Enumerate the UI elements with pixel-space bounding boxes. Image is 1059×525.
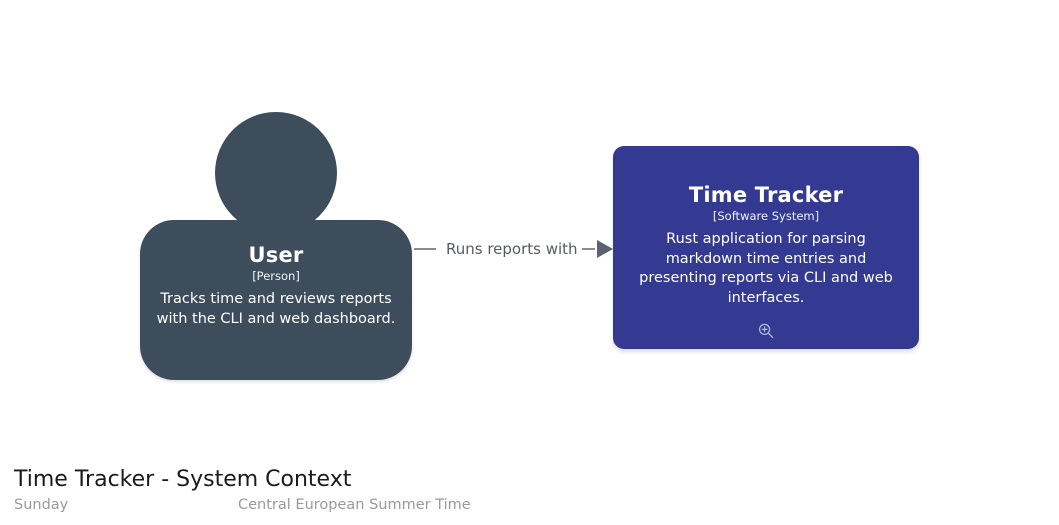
diagram-title: Time Tracker - System Context — [14, 466, 714, 494]
relationship-line-left — [414, 248, 436, 250]
diagram-timezone-label: Central European Summer Time — [238, 495, 471, 515]
person-label-group: User [Person] Tracks time and reviews re… — [140, 220, 412, 380]
person-name: User — [152, 242, 400, 268]
zoom-in-icon[interactable] — [757, 322, 775, 340]
system-description: Rust application for parsing markdown ti… — [627, 230, 905, 308]
software-system-node-time-tracker[interactable]: Time Tracker [Software System] Rust appl… — [613, 146, 919, 349]
system-type-label: [Software System] — [627, 208, 905, 225]
diagram-footer: Time Tracker - System Context Sunday Cen… — [14, 466, 714, 515]
person-head-shape — [215, 112, 337, 234]
person-node-user[interactable]: User [Person] Tracks time and reviews re… — [140, 112, 412, 380]
diagram-subtitle-row: Sunday Central European Summer Time — [14, 495, 714, 515]
relationship-label: Runs reports with — [446, 236, 578, 262]
person-type-label: [Person] — [152, 268, 400, 285]
relationship-arrowhead-icon — [597, 240, 613, 258]
relationship-line-right — [582, 248, 595, 250]
diagram-canvas: User [Person] Tracks time and reviews re… — [0, 0, 1059, 525]
diagram-day-label: Sunday — [14, 495, 68, 515]
person-description: Tracks time and reviews reports with the… — [152, 290, 400, 329]
system-name: Time Tracker — [627, 182, 905, 208]
relationship-runs-reports-with: Runs reports with — [410, 236, 618, 264]
